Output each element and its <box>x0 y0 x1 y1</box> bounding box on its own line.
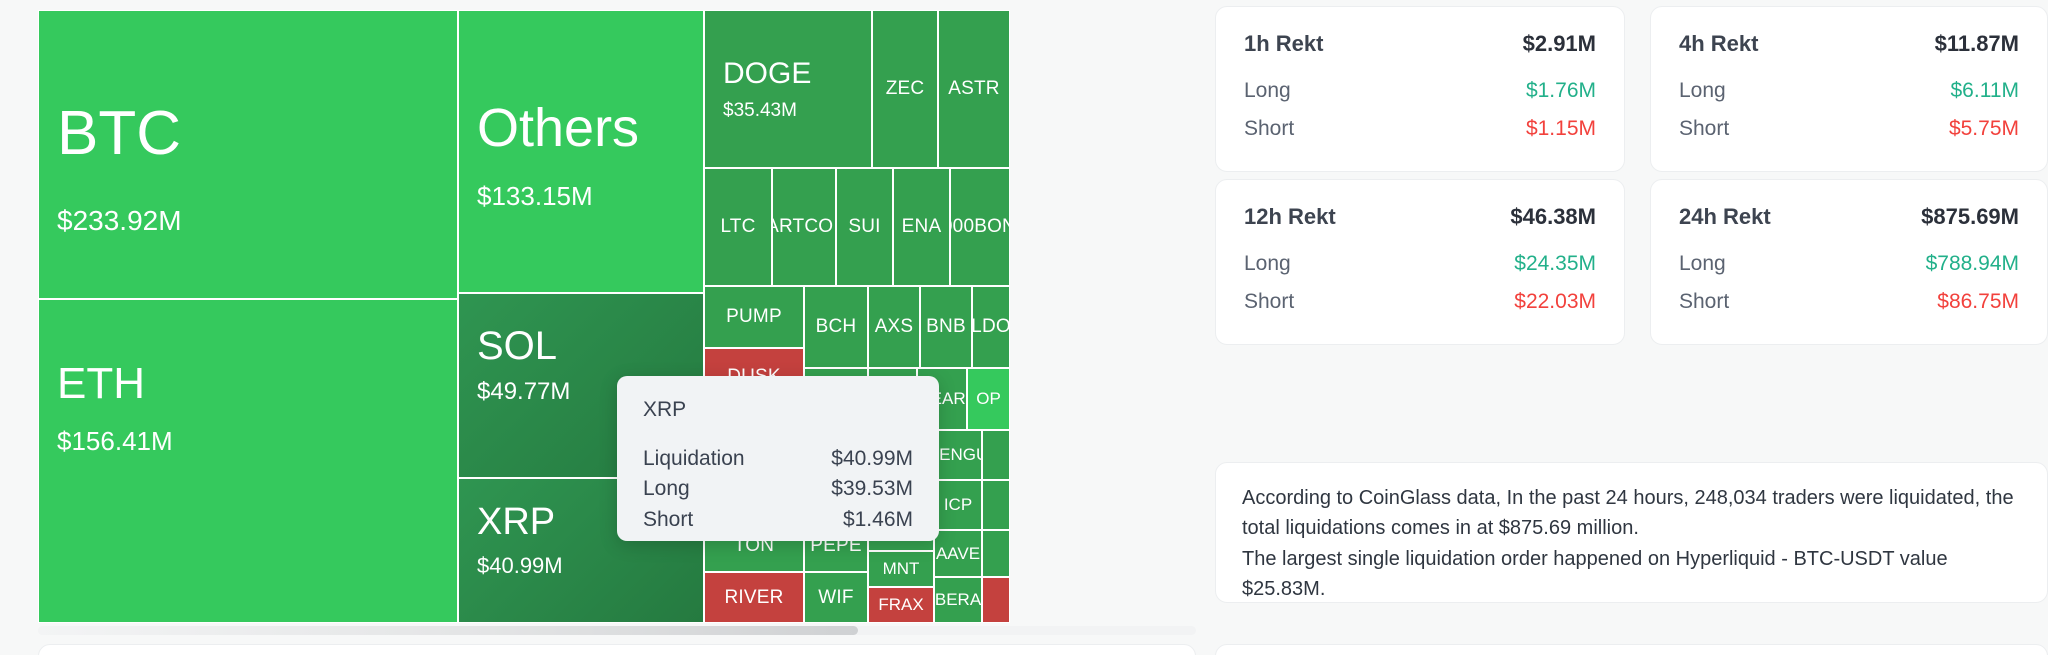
rekt-long-value: $6.11M <box>1951 79 2020 103</box>
tooltip-row-short: Short $1.46M <box>643 505 913 535</box>
treemap-tile-symbol: LDO <box>973 287 1009 367</box>
treemap-tile-value: $156.41M <box>57 428 173 454</box>
treemap-tile-symbol: FRAX <box>869 588 933 622</box>
treemap-tile-btc[interactable]: BTC$233.92M <box>38 10 458 299</box>
treemap-tile-pengu[interactable]: PENGU <box>934 430 982 480</box>
liquidation-dashboard: BTC$233.92METH$156.41MOthers$133.15MSOL$… <box>0 0 2048 655</box>
rekt-long-row: Long $24.35M <box>1244 252 1596 276</box>
treemap-tile-symbol: ZEC <box>873 11 937 167</box>
rekt-header: 24h Rekt $875.69M <box>1679 204 2019 230</box>
treemap-tile-symbol: BCH <box>805 287 867 367</box>
treemap-tile-symbol: AXS <box>869 287 919 367</box>
rekt-short-value: $22.03M <box>1514 290 1596 314</box>
treemap-tile-bnb[interactable]: BNB <box>920 286 972 368</box>
treemap-tile-pump[interactable]: PUMP <box>704 286 804 348</box>
treemap-tile-symbol: OP <box>968 369 1009 429</box>
tooltip-liquidation-value: $40.99M <box>831 444 913 474</box>
tooltip-symbol: XRP <box>643 398 913 422</box>
rekt-short-value: $1.15M <box>1526 117 1596 141</box>
treemap-tile-ena[interactable]: ENA <box>893 168 950 286</box>
treemap-tooltip: XRP Liquidation $40.99M Long $39.53M Sho… <box>617 376 939 541</box>
rekt-short-value: $86.75M <box>1937 290 2019 314</box>
treemap-tile-symbol: BERA <box>935 578 981 622</box>
tooltip-row-liquidation: Liquidation $40.99M <box>643 444 913 474</box>
treemap-tile-frax[interactable]: FRAX <box>868 587 934 623</box>
rekt-total-value: $11.87M <box>1935 31 2019 57</box>
treemap-tile-symbol: Others <box>477 101 639 155</box>
treemap-tile-sui[interactable]: SUI <box>836 168 893 286</box>
treemap-tile-bch[interactable]: BCH <box>804 286 868 368</box>
rekt-card-12h[interactable]: 12h Rekt $46.38M Long $24.35M Short $22.… <box>1215 179 1625 345</box>
treemap-scrollbar-thumb[interactable] <box>38 626 858 635</box>
rekt-short-row: Short $86.75M <box>1679 290 2019 314</box>
treemap-tile-value: $233.92M <box>57 207 182 235</box>
treemap-horizontal-scrollbar[interactable] <box>38 626 1196 635</box>
rekt-long-value: $24.35M <box>1514 252 1596 276</box>
rekt-long-label: Long <box>1679 252 1726 276</box>
rekt-total-value: $46.38M <box>1510 204 1596 230</box>
treemap-tile-symbol: PUMP <box>705 287 803 347</box>
treemap-tile-symbol: BTC <box>57 103 181 165</box>
next-section-card-left[interactable] <box>38 644 1196 655</box>
rekt-short-label: Short <box>1679 117 1729 141</box>
liquidation-summary-card: According to CoinGlass data, In the past… <box>1215 462 2048 603</box>
treemap-tile-ldo[interactable]: LDO <box>972 286 1010 368</box>
treemap-tile-edge3[interactable] <box>982 530 1010 577</box>
treemap-tile-mnt[interactable]: MNT <box>868 551 934 587</box>
summary-line-2: The largest single liquidation order hap… <box>1242 544 2021 605</box>
treemap-tile-symbol <box>983 531 1009 576</box>
treemap-tile-value: $35.43M <box>723 101 797 120</box>
treemap-tile-edge2[interactable] <box>982 480 1010 530</box>
treemap-tile-aave[interactable]: AAVE <box>934 530 982 577</box>
rekt-period-label: 24h Rekt <box>1679 204 1771 230</box>
rekt-long-value: $1.76M <box>1526 79 1596 103</box>
rekt-header: 4h Rekt $11.87M <box>1679 31 2019 57</box>
rekt-short-row: Short $22.03M <box>1244 290 1596 314</box>
treemap-tile-icp[interactable]: ICP <box>934 480 982 530</box>
rekt-long-row: Long $1.76M <box>1244 79 1596 103</box>
rekt-period-label: 12h Rekt <box>1244 204 1336 230</box>
tooltip-short-label: Short <box>643 505 693 535</box>
rekt-header: 1h Rekt $2.91M <box>1244 31 1596 57</box>
treemap-tile-eth[interactable]: ETH$156.41M <box>38 299 458 623</box>
rekt-short-row: Short $1.15M <box>1244 117 1596 141</box>
rekt-period-label: 4h Rekt <box>1679 31 1758 57</box>
treemap-tile-symbol: FARTCOIN <box>773 169 835 285</box>
rekt-long-value: $788.94M <box>1926 252 2019 276</box>
treemap-tile-symbol: ETH <box>57 362 145 406</box>
treemap-tile-symbol: SUI <box>837 169 892 285</box>
treemap-tile-symbol: BNB <box>921 287 971 367</box>
treemap-tile-bera[interactable]: BERA <box>934 577 982 623</box>
rekt-long-row: Long $788.94M <box>1679 252 2019 276</box>
treemap-tile-ltc[interactable]: LTC <box>704 168 772 286</box>
treemap-tile-symbol <box>983 431 1009 479</box>
treemap-tile-symbol: ICP <box>935 481 981 529</box>
treemap-tile-doge[interactable]: DOGE$35.43M <box>704 10 872 168</box>
treemap-tile-symbol: ENA <box>894 169 949 285</box>
treemap-tile-symbol: MNT <box>869 552 933 586</box>
rekt-period-label: 1h Rekt <box>1244 31 1323 57</box>
rekt-short-label: Short <box>1244 290 1294 314</box>
tooltip-liquidation-label: Liquidation <box>643 444 745 474</box>
rekt-short-label: Short <box>1244 117 1294 141</box>
treemap-tile-symbol: WIF <box>805 573 867 622</box>
rekt-total-value: $875.69M <box>1921 204 2019 230</box>
treemap-tile-value: $133.15M <box>477 183 593 209</box>
treemap-tile-symbol: 1000BONK <box>951 169 1009 285</box>
treemap-tile-tenk[interactable]: 1000BONK <box>950 168 1010 286</box>
rekt-total-value: $2.91M <box>1523 31 1596 57</box>
rekt-long-label: Long <box>1244 252 1291 276</box>
treemap-tile-symbol: RIVER <box>705 573 803 622</box>
rekt-short-row: Short $5.75M <box>1679 117 2019 141</box>
rekt-short-label: Short <box>1679 290 1729 314</box>
treemap-tile-symbol: XRP <box>477 503 555 541</box>
treemap-tile-farto[interactable]: FARTCOIN <box>772 168 836 286</box>
rekt-long-label: Long <box>1244 79 1291 103</box>
treemap-tile-zec[interactable]: ZEC <box>872 10 938 168</box>
tooltip-row-long: Long $39.53M <box>643 474 913 504</box>
treemap-tile-symbol: PENGU <box>935 431 981 479</box>
treemap-tile-symbol <box>983 481 1009 529</box>
treemap-tile-wif[interactable]: WIF <box>804 572 868 623</box>
treemap-tile-symbol <box>983 578 1009 622</box>
treemap-tile-symbol: AAVE <box>935 531 981 576</box>
next-section-card-right[interactable] <box>1215 644 2048 655</box>
treemap-tile-astr[interactable]: ASTR <box>938 10 1010 168</box>
treemap-tile-river[interactable]: RIVER <box>704 572 804 623</box>
rekt-card-24h[interactable]: 24h Rekt $875.69M Long $788.94M Short $8… <box>1650 179 2048 345</box>
summary-line-1: According to CoinGlass data, In the past… <box>1242 483 2021 544</box>
tooltip-short-value: $1.46M <box>843 505 913 535</box>
rekt-short-value: $5.75M <box>1949 117 2019 141</box>
treemap-tile-others[interactable]: Others$133.15M <box>458 10 704 293</box>
rekt-long-label: Long <box>1679 79 1726 103</box>
treemap-tile-symbol: DOGE <box>723 59 811 89</box>
treemap-tile-op[interactable]: OP <box>967 368 1010 430</box>
rekt-card-4h[interactable]: 4h Rekt $11.87M Long $6.11M Short $5.75M <box>1650 6 2048 172</box>
treemap-tile-value: $40.99M <box>477 555 563 577</box>
treemap-tile-edge1[interactable] <box>982 430 1010 480</box>
treemap-tile-edge4[interactable] <box>982 577 1010 623</box>
treemap-tile-symbol: LTC <box>705 169 771 285</box>
rekt-header: 12h Rekt $46.38M <box>1244 204 1596 230</box>
tooltip-long-label: Long <box>643 474 690 504</box>
tooltip-long-value: $39.53M <box>831 474 913 504</box>
rekt-long-row: Long $6.11M <box>1679 79 2019 103</box>
treemap-tile-symbol: ASTR <box>939 11 1009 167</box>
treemap-tile-value: $49.77M <box>477 380 570 404</box>
treemap-tile-symbol: SOL <box>477 326 557 366</box>
treemap-tile-axs[interactable]: AXS <box>868 286 920 368</box>
rekt-card-1h[interactable]: 1h Rekt $2.91M Long $1.76M Short $1.15M <box>1215 6 1625 172</box>
